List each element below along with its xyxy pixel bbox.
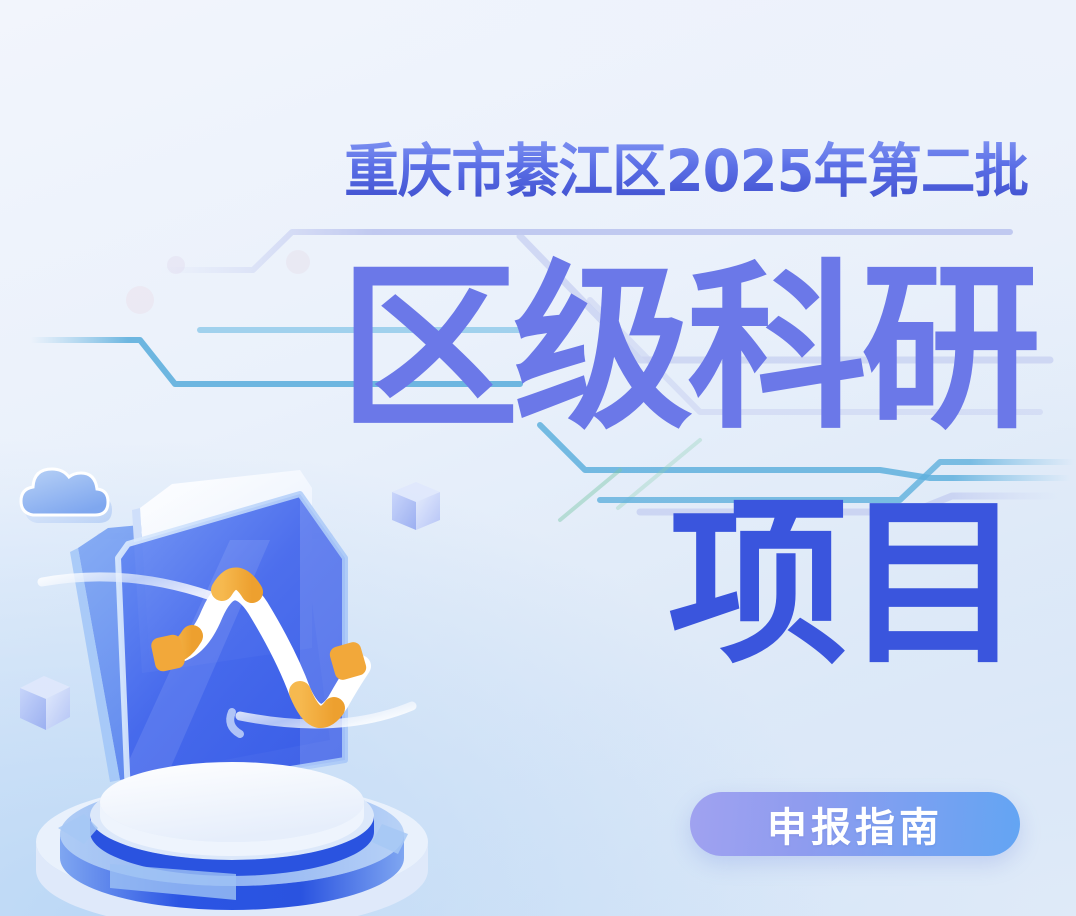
poster-subtitle: 重庆市綦江区2025年第二批	[62, 138, 1028, 204]
poster-canvas: 重庆市綦江区2025年第二批 区级科研 项目 申报指南	[0, 0, 1076, 916]
poster-title-line-1: 区级科研	[0, 255, 1035, 445]
text-block: 重庆市綦江区2025年第二批 区级科研 项目	[0, 0, 1076, 916]
apply-guide-button[interactable]: 申报指南	[690, 792, 1020, 856]
poster-title-line-2: 项目	[0, 490, 1020, 680]
apply-guide-button-label: 申报指南	[767, 795, 943, 853]
